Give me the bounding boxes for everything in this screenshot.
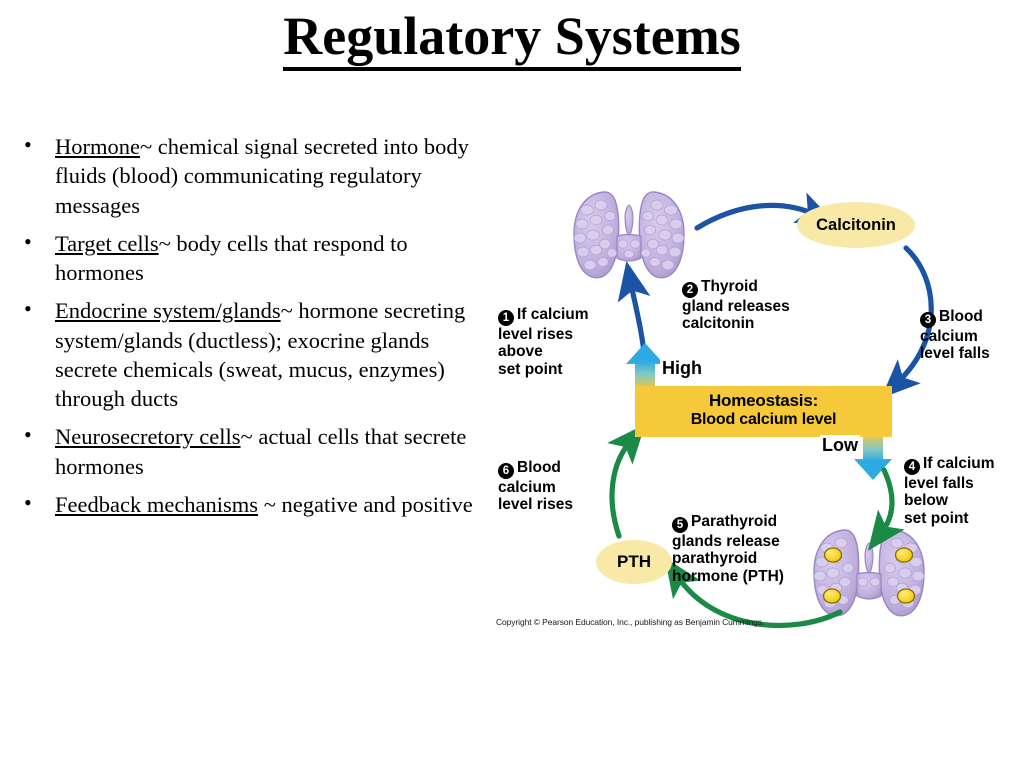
step-number-icon: 5 — [672, 517, 688, 533]
arrow-low-to-parathyroid — [882, 470, 892, 532]
homeostasis-subtitle: Blood calcium level — [635, 411, 892, 429]
callout-2: 2Thyroid gland releases calcitonin — [682, 260, 790, 333]
list-item: •Feedback mechanisms ~ negative and posi… — [10, 490, 495, 519]
callout-1: 1If calcium level rises above set point — [498, 288, 589, 379]
list-item: •Endocrine system/glands~ hormone secret… — [10, 296, 495, 413]
bullet-term: Target cells — [55, 231, 159, 256]
low-label: Low — [820, 435, 860, 456]
bullet-body: ~ negative and positive — [258, 492, 473, 517]
callout-5: 5Parathyroid glands release parathyroid … — [672, 495, 784, 586]
bullet-marker: • — [24, 421, 32, 450]
bullet-marker: • — [24, 295, 32, 324]
pth-label: PTH — [617, 552, 651, 572]
bullet-marker: • — [24, 489, 32, 518]
callout-2-text: Thyroid gland releases calcitonin — [682, 278, 790, 333]
page-title-text: Regulatory Systems — [283, 8, 740, 71]
bullet-marker: • — [24, 131, 32, 160]
calcitonin-oval: Calcitonin — [797, 202, 915, 248]
bullet-term: Feedback mechanisms — [55, 492, 258, 517]
calcitonin-label: Calcitonin — [816, 216, 896, 235]
high-label: High — [660, 358, 704, 379]
step-number-icon: 2 — [682, 282, 698, 298]
bullet-term: Neurosecretory cells — [55, 424, 241, 449]
list-item: •Hormone~ chemical signal secreted into … — [10, 132, 495, 220]
callout-6: 6Blood calcium level rises — [498, 441, 573, 514]
homeostasis-title: Homeostasis: — [635, 386, 892, 411]
callout-4: 4If calcium level falls below set point — [904, 437, 995, 528]
bullet-list: •Hormone~ chemical signal secreted into … — [10, 132, 495, 528]
callout-5-text: Parathyroid glands release parathyroid h… — [672, 513, 784, 585]
callout-3: 3Blood calcium level falls — [920, 290, 990, 363]
step-number-icon: 3 — [920, 312, 936, 328]
list-item: •Neurosecretory cells~ actual cells that… — [10, 422, 495, 481]
copyright-notice: Copyright © Pearson Education, Inc., pub… — [496, 618, 764, 628]
arrow-pth-to-homeostasis — [612, 442, 630, 536]
bullet-term: Hormone — [55, 134, 140, 159]
step-number-icon: 6 — [498, 463, 514, 479]
calcium-homeostasis-diagram: Homeostasis: Blood calcium level High Lo… — [492, 178, 1024, 643]
thyroid-gland-top-icon — [574, 192, 684, 278]
bullet-marker: • — [24, 228, 32, 257]
page-title: Regulatory Systems — [0, 8, 1024, 71]
bullet-term: Endocrine system/glands — [55, 298, 281, 323]
parathyroid-glands-icon — [814, 530, 924, 616]
pth-oval: PTH — [596, 540, 672, 584]
homeostasis-bar: Homeostasis: Blood calcium level — [635, 386, 892, 437]
step-number-icon: 4 — [904, 459, 920, 475]
high-arrow-icon — [626, 343, 664, 390]
list-item: •Target cells~ body cells that respond t… — [10, 229, 495, 288]
step-number-icon: 1 — [498, 310, 514, 326]
